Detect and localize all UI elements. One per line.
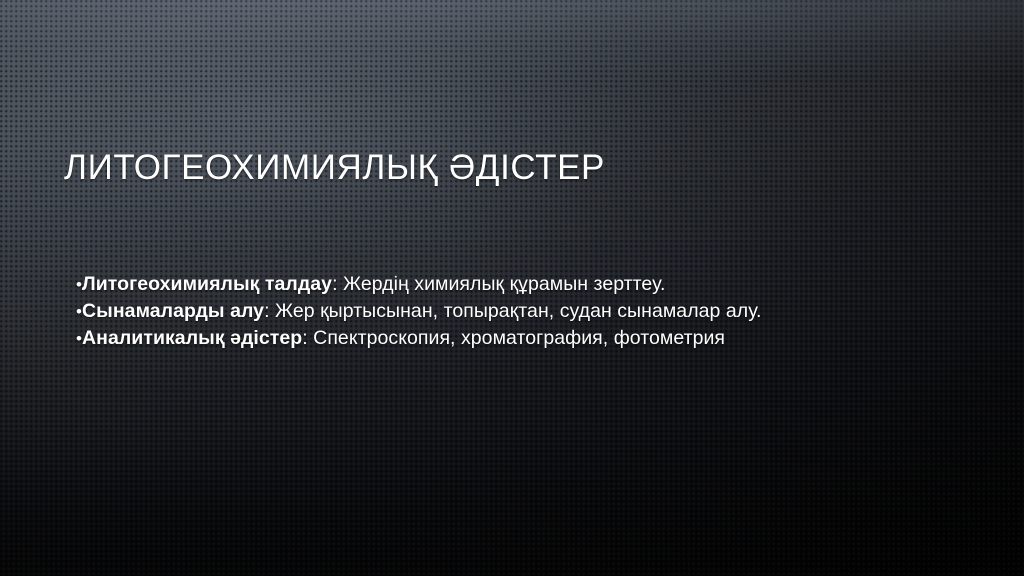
list-item: •Литогеохимиялық талдау: Жердің химиялық… — [76, 271, 776, 298]
list-item: •Аналитикалық әдістер: Спектроскопия, хр… — [76, 325, 776, 352]
list-item-text: : Жердің химиялық құрамын зерттеу. — [332, 273, 665, 295]
slide-title: ЛИТОГЕОХИМИЯЛЫҚ ӘДІСТЕР — [64, 147, 944, 189]
list-item-text: : Спектроскопия, хроматография, фотометр… — [302, 327, 725, 349]
list-item: •Сынамаларды алу: Жер қыртысынан, топыра… — [76, 298, 776, 325]
bullet-list: •Литогеохимиялық талдау: Жердің химиялық… — [76, 271, 776, 352]
list-item-lead: Сынамаларды алу — [82, 300, 264, 322]
presentation-slide: ЛИТОГЕОХИМИЯЛЫҚ ӘДІСТЕР •Литогеохимиялық… — [0, 0, 1024, 576]
list-item-text: : Жер қыртысынан, топырақтан, судан сына… — [264, 300, 761, 322]
list-item-lead: Аналитикалық әдістер — [82, 327, 302, 349]
list-item-lead: Литогеохимиялық талдау — [82, 273, 332, 295]
slide-content: ЛИТОГЕОХИМИЯЛЫҚ ӘДІСТЕР •Литогеохимиялық… — [0, 0, 1024, 576]
